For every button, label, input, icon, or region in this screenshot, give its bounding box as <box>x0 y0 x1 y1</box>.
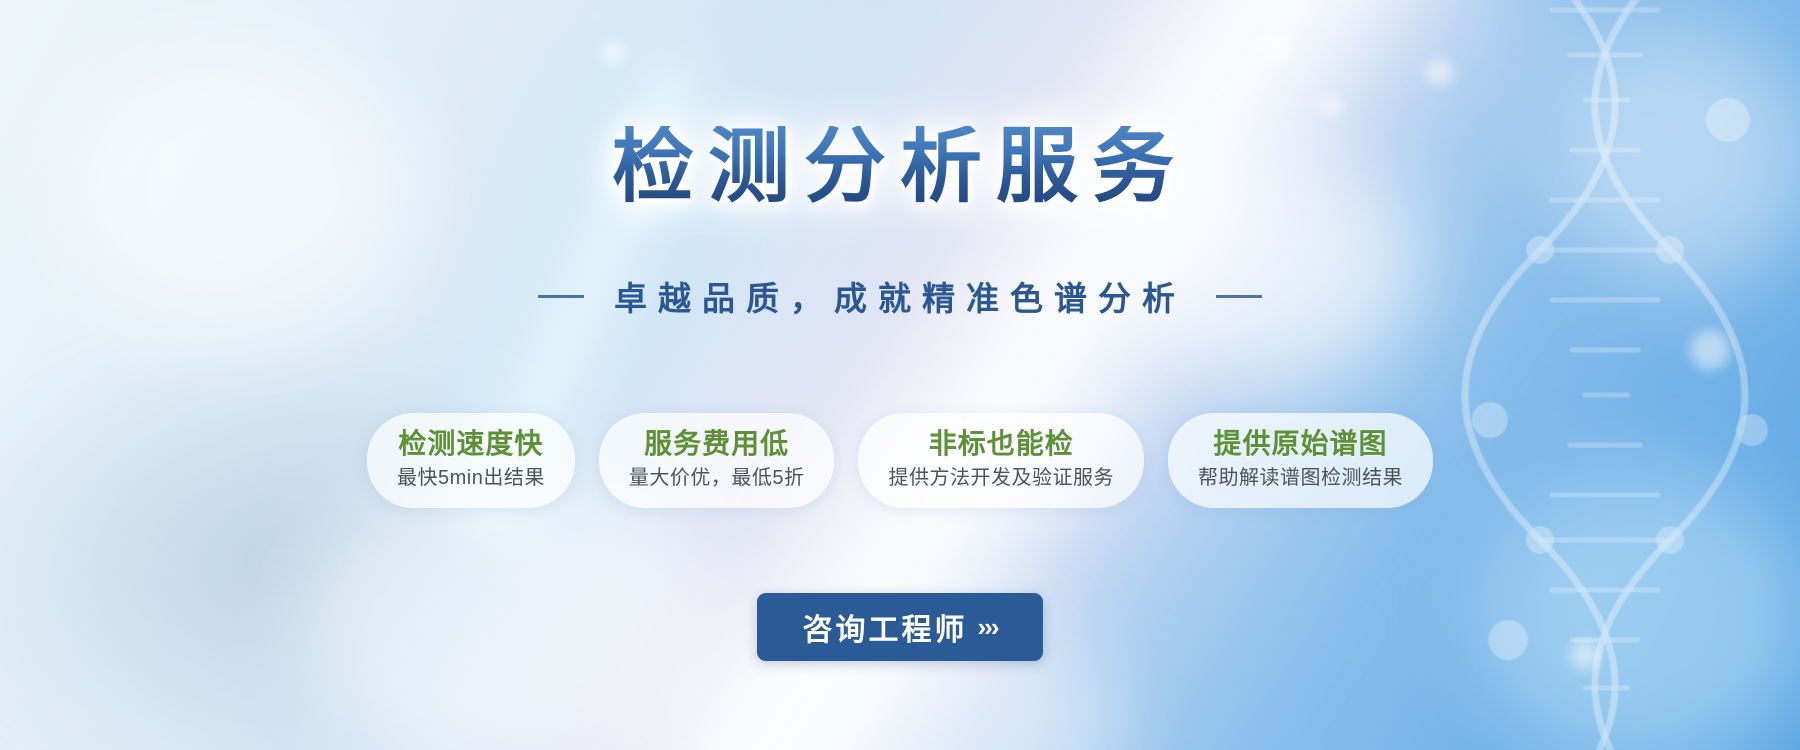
feature-title: 非标也能检 <box>888 427 1114 462</box>
feature-subtitle: 最快5min出结果 <box>397 465 545 492</box>
feature-pill-nonstandard[interactable]: 非标也能检 提供方法开发及验证服务 <box>858 413 1144 508</box>
page-title: 检测分析服务 <box>0 126 1800 208</box>
feature-pill-speed[interactable]: 检测速度快 最快5min出结果 <box>367 413 575 508</box>
page-subtitle: 卓越品质，成就精准色谱分析 <box>614 272 1186 320</box>
feature-subtitle: 帮助解读谱图检测结果 <box>1198 465 1403 492</box>
chevron-right-icon: ››› <box>978 612 998 643</box>
rule-right <box>1216 295 1262 298</box>
banner-content: 检测分析服务 卓越品质，成就精准色谱分析 检测速度快 最快5min出结果 服务费… <box>0 0 1800 750</box>
feature-pill-list: 检测速度快 最快5min出结果 服务费用低 量大价优，最低5折 非标也能检 提供… <box>0 413 1800 508</box>
consult-engineer-button[interactable]: 咨询工程师 ››› <box>757 593 1044 661</box>
feature-pill-rawdata[interactable]: 提供原始谱图 帮助解读谱图检测结果 <box>1168 413 1433 508</box>
cta-label: 咨询工程师 <box>803 605 968 649</box>
feature-title: 服务费用低 <box>629 427 805 462</box>
feature-title: 检测速度快 <box>397 427 545 462</box>
feature-title: 提供原始谱图 <box>1198 427 1403 462</box>
cta-wrapper: 咨询工程师 ››› <box>0 593 1800 661</box>
subtitle-row: 卓越品质，成就精准色谱分析 <box>0 272 1800 320</box>
feature-pill-price[interactable]: 服务费用低 量大价优，最低5折 <box>599 413 835 508</box>
feature-subtitle: 量大价优，最低5折 <box>629 465 805 492</box>
detection-service-banner: 检测分析服务 卓越品质，成就精准色谱分析 检测速度快 最快5min出结果 服务费… <box>0 0 1800 750</box>
feature-subtitle: 提供方法开发及验证服务 <box>888 465 1114 492</box>
rule-left <box>538 295 584 298</box>
